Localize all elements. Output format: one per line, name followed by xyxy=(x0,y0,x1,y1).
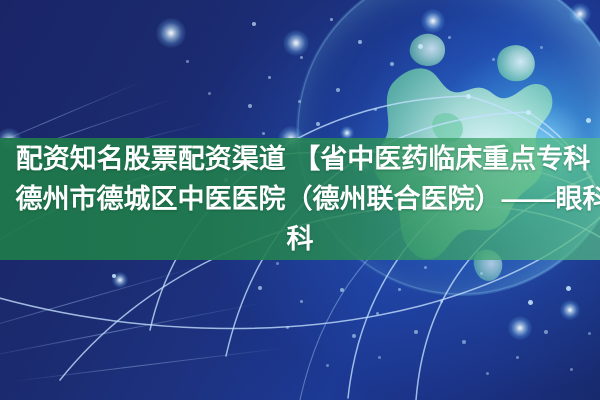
promo-banner-image: 配资知名股票配资渠道 【省中医药临床重点专科 】德州市德城区中医医院（德州联合医… xyxy=(0,0,600,400)
caption-line-1: 配资知名股票配资渠道 【省中医药临床重点专科 xyxy=(16,139,591,179)
caption-line-3: 科 xyxy=(287,219,314,259)
caption-line-2: 】德州市德城区中医医院（德州联合医院）——眼科 xyxy=(0,179,600,219)
banner-caption: 配资知名股票配资渠道 【省中医药临床重点专科 】德州市德城区中医医院（德州联合医… xyxy=(0,138,600,260)
